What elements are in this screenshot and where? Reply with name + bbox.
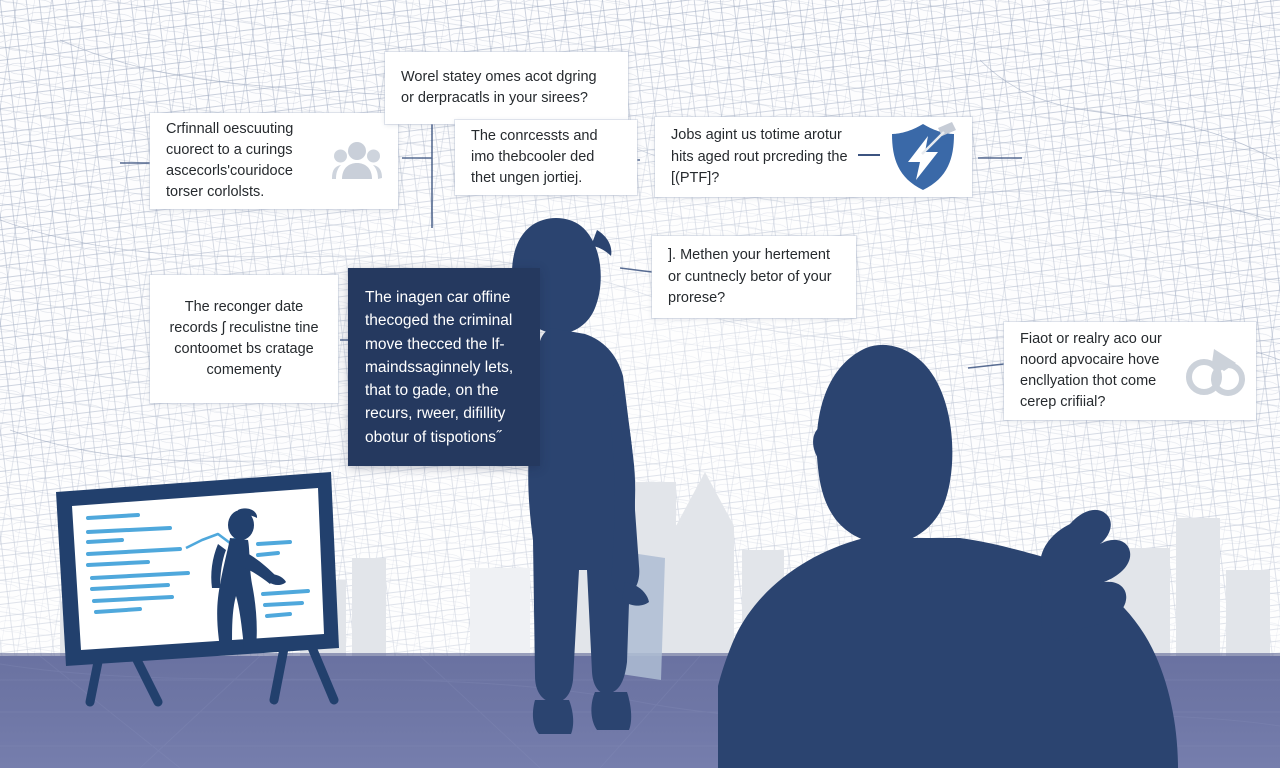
target-card-text: Crfinnall oescuuting cuorect to a curing… xyxy=(166,119,318,203)
highlight-card-text: The inagen car offine thecoged the crimi… xyxy=(365,286,523,449)
highlight-card[interactable]: The inagen car offine thecoged the crimi… xyxy=(348,268,540,466)
process-card[interactable]: ]. Methen your hertement or cuntnecly be… xyxy=(652,236,856,318)
handcuffs-icon xyxy=(1184,341,1246,401)
records-card-text: The reconger date records ʃ reculistne t… xyxy=(166,297,322,381)
process-card-text: ]. Methen your hertement or cuntnecly be… xyxy=(668,245,840,308)
records-card[interactable]: The reconger date records ʃ reculistne t… xyxy=(150,275,338,403)
advocacy-card[interactable]: Fiaot or realry aco our noord apvocaire … xyxy=(1004,322,1256,420)
compliance-connector xyxy=(858,154,880,156)
target-card[interactable]: Crfinnall oescuuting cuorect to a curing… xyxy=(150,113,398,209)
infographic-scene: Crfinnall oescuuting cuorect to a curing… xyxy=(0,0,1280,768)
people-group-icon xyxy=(332,139,382,183)
advocacy-card-text: Fiaot or realry aco our noord apvocaire … xyxy=(1020,329,1170,413)
compliance-card[interactable]: Jobs agint us totime arotur hits aged ro… xyxy=(655,117,972,197)
question-card-text: Worel statey omes acot dgring or derprac… xyxy=(401,67,612,109)
presentation-board[interactable] xyxy=(50,470,350,710)
shield-bolt-icon xyxy=(886,120,960,194)
concerns-card[interactable]: The conrcessts and imo thebcooler ded th… xyxy=(455,120,637,195)
concerns-card-text: The conrcessts and imo thebcooler ded th… xyxy=(471,126,621,189)
question-card[interactable]: Worel statey omes acot dgring or derprac… xyxy=(385,52,628,124)
compliance-card-text: Jobs agint us totime arotur hits aged ro… xyxy=(671,125,862,188)
